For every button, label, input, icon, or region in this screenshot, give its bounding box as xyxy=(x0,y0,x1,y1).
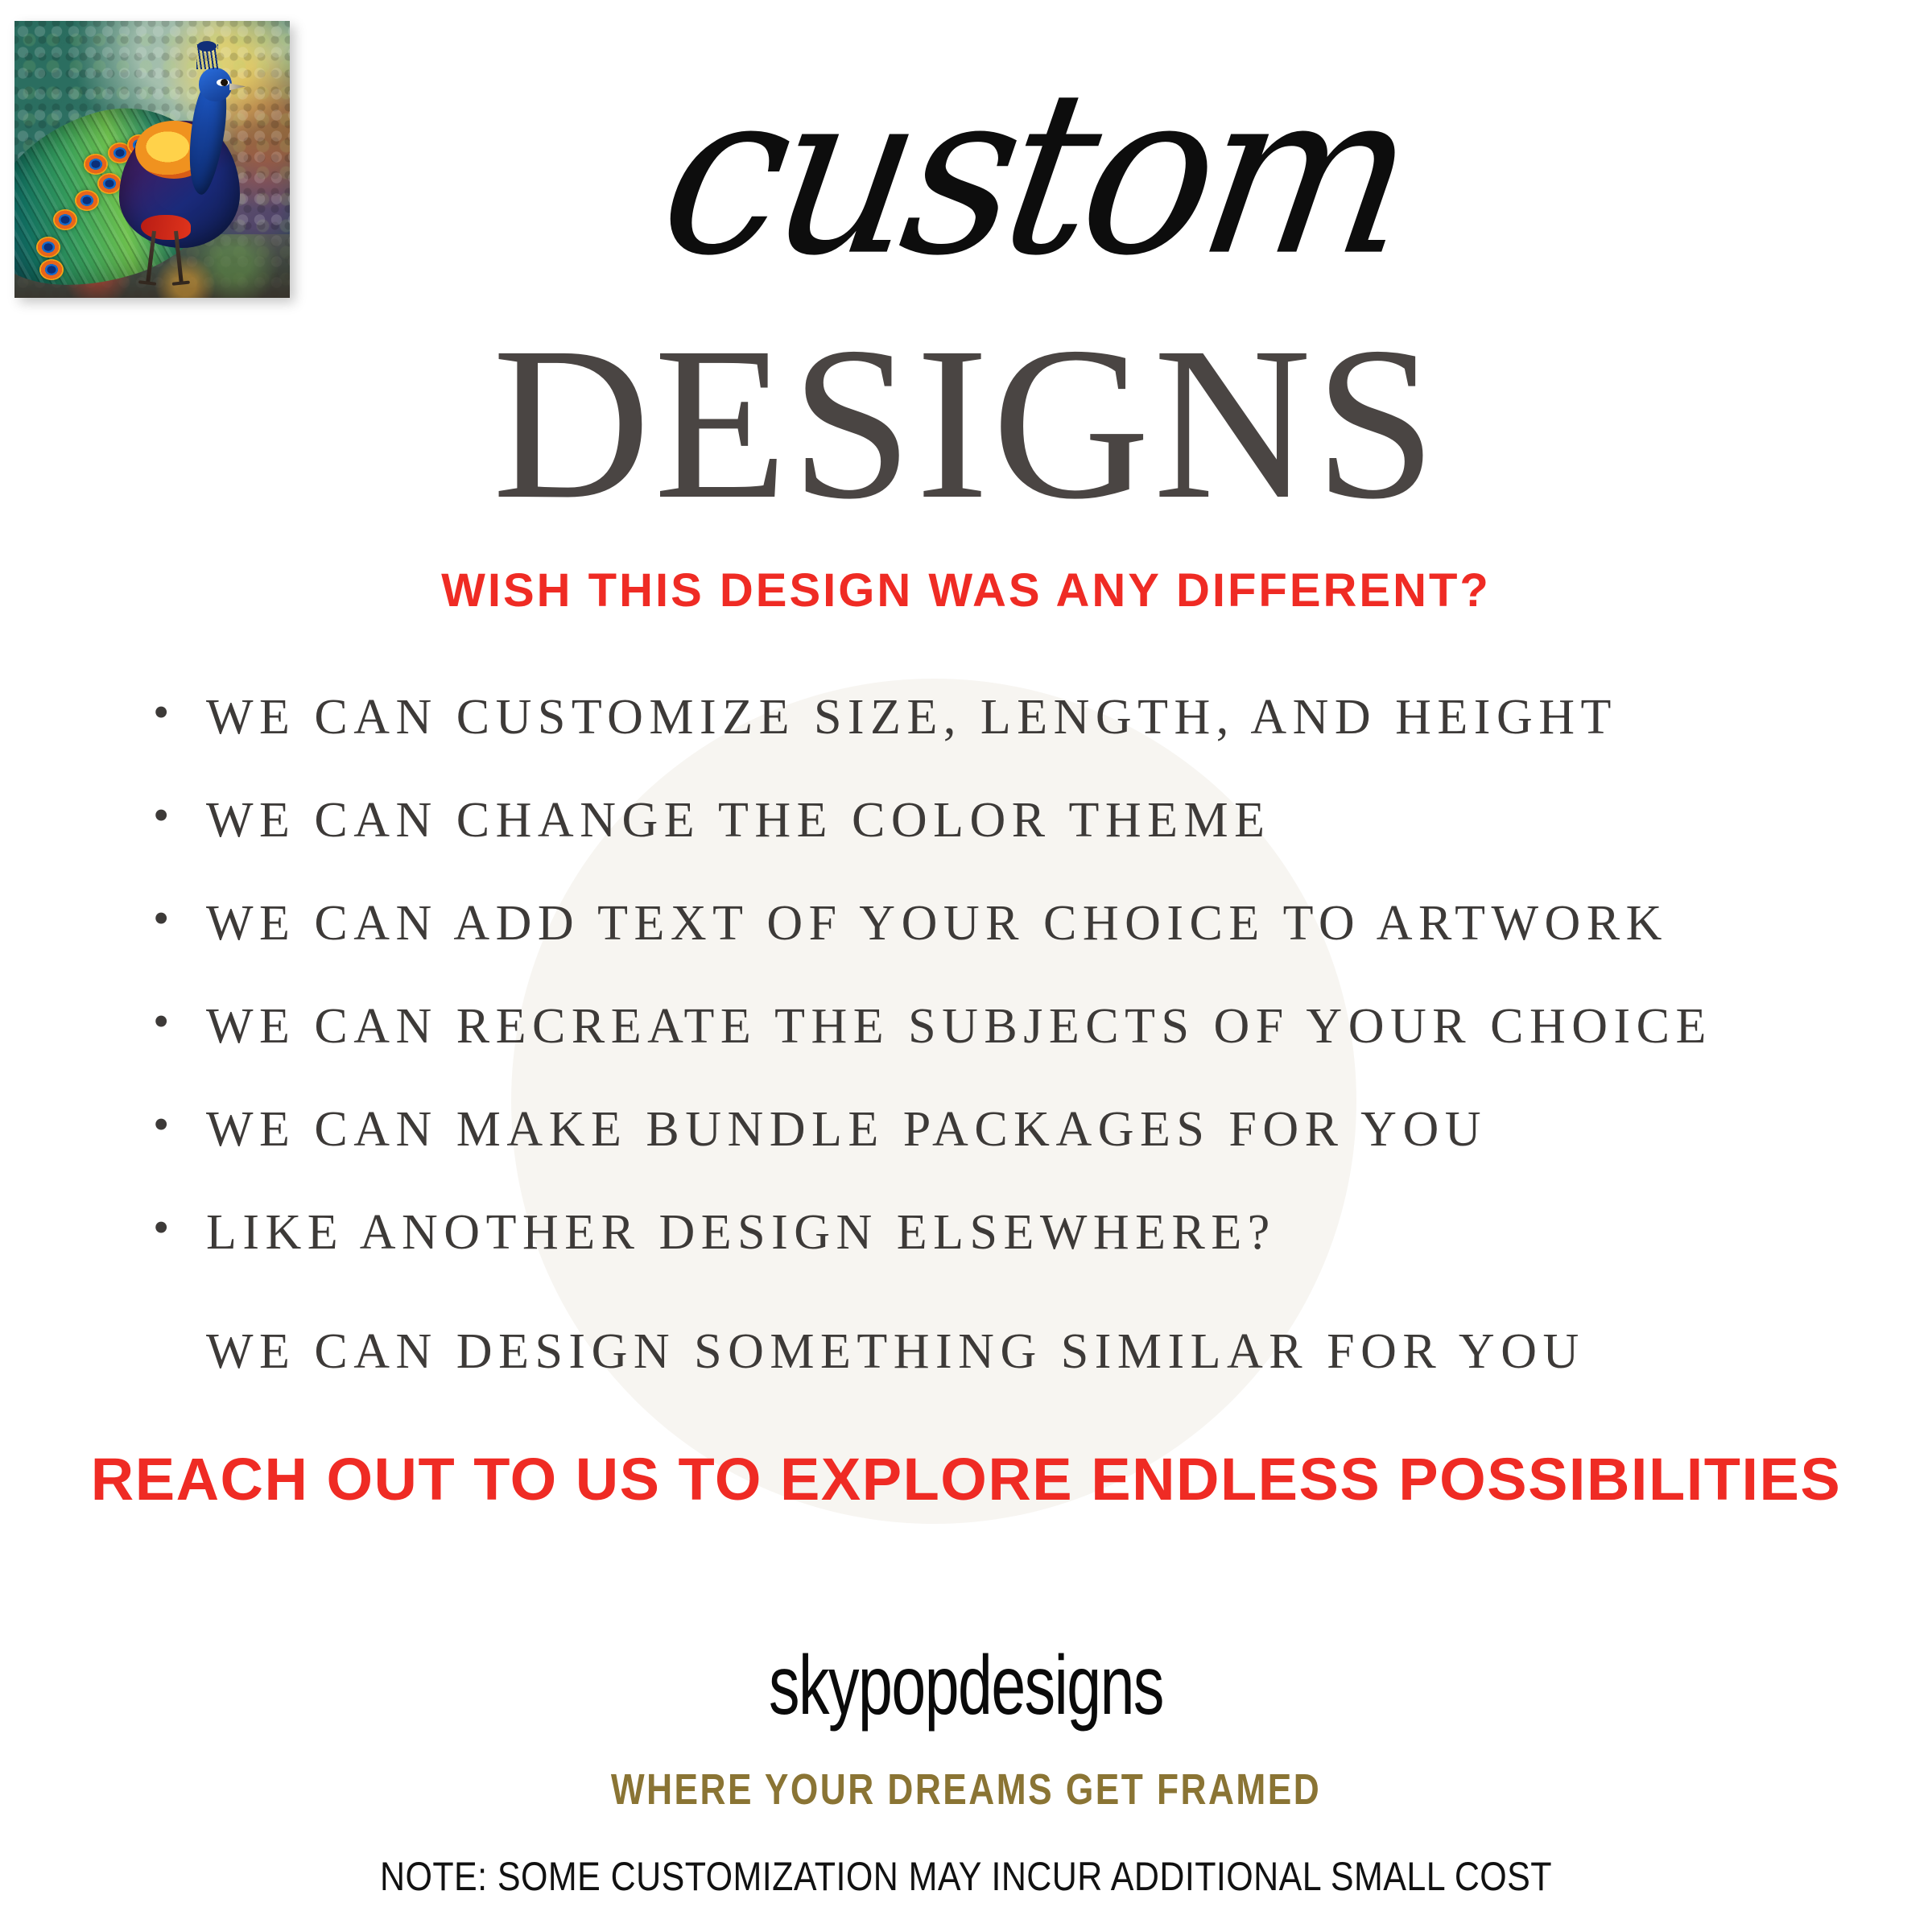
feature-bullet-list: WE CAN CUSTOMIZE SIZE, LENGTH, AND HEIGH… xyxy=(153,692,1843,1311)
call-to-action-text[interactable]: REACH OUT TO US TO EXPLORE ENDLESS POSSI… xyxy=(0,1445,1932,1513)
list-item-continuation: WE CAN DESIGN SOMETHING SIMILAR FOR YOU xyxy=(206,1327,1585,1377)
brand-logo-text: skypopdesigns xyxy=(251,1638,1681,1734)
headline-script-custom: custom xyxy=(0,60,1932,287)
brand-tagline: WHERE YOUR DREAMS GET FRAMED xyxy=(174,1765,1758,1814)
list-item: WE CAN RECREATE THE SUBJECTS OF YOUR CHO… xyxy=(153,1001,1843,1051)
list-item: WE CAN CUSTOMIZE SIZE, LENGTH, AND HEIGH… xyxy=(153,692,1843,742)
list-item: LIKE ANOTHER DESIGN ELSEWHERE? xyxy=(153,1207,1843,1257)
list-item: WE CAN ADD TEXT OF YOUR CHOICE TO ARTWOR… xyxy=(153,898,1843,948)
list-item: WE CAN CHANGE THE COLOR THEME xyxy=(153,795,1843,845)
list-item: WE CAN MAKE BUNDLE PACKAGES FOR YOU xyxy=(153,1104,1843,1154)
poster-canvas: custom DESIGNS WISH THIS DESIGN WAS ANY … xyxy=(0,0,1932,1932)
subtitle-question: WISH THIS DESIGN WAS ANY DIFFERENT? xyxy=(0,563,1932,617)
page-title-designs: DESIGNS xyxy=(0,314,1932,533)
disclaimer-note: NOTE: SOME CUSTOMIZATION MAY INCUR ADDIT… xyxy=(135,1853,1797,1900)
